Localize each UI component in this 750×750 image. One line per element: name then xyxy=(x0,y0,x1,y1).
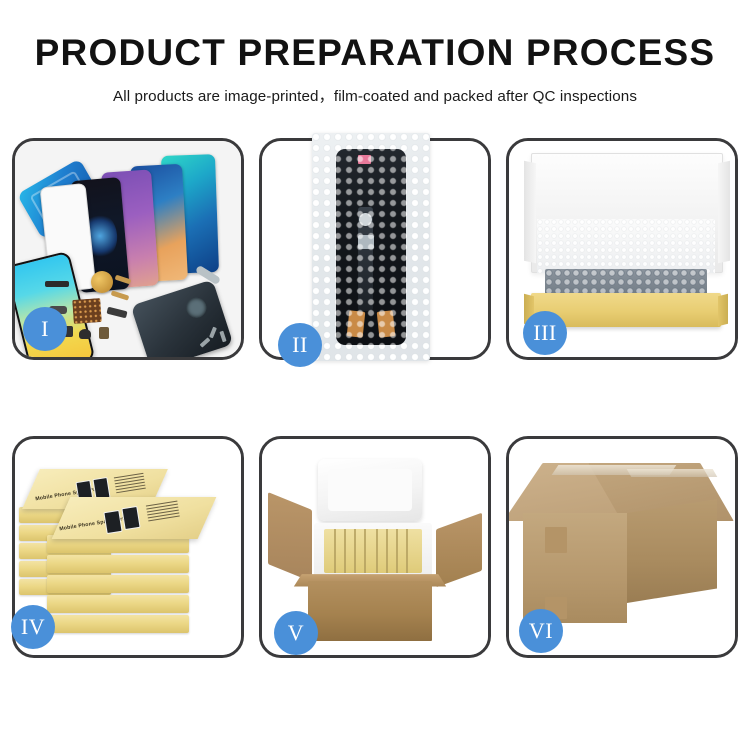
box-stack-right-5 xyxy=(47,615,189,633)
step-numeral-2: II xyxy=(292,332,308,358)
step-numeral-6: VI xyxy=(529,618,553,644)
process-step-grid: I II xyxy=(12,138,738,658)
step-badge-1: I xyxy=(23,307,67,351)
sim-tray-icon xyxy=(99,327,109,339)
process-step-card-4: Mobile Phone Spare Parts Mobile Phone Sp… xyxy=(12,436,244,658)
copper-flex-right-icon xyxy=(377,310,396,338)
driver-chip-icon xyxy=(358,235,374,249)
box-screen-print-right-2 xyxy=(121,506,140,530)
step-numeral-4: IV xyxy=(21,614,45,640)
foam-cooler-lid-icon xyxy=(318,459,422,521)
chip-grid-icon xyxy=(72,298,102,324)
step-badge-4: IV xyxy=(11,605,55,649)
step-badge-5: V xyxy=(274,611,318,655)
copper-flex-left-icon xyxy=(347,310,366,338)
box-stack-right-3 xyxy=(47,575,189,593)
process-step-card-2: II xyxy=(259,138,491,360)
process-step-card-6: VI xyxy=(506,436,738,658)
box-stack-right-2 xyxy=(47,555,189,573)
carton-body-icon xyxy=(308,581,432,641)
step-badge-6: VI xyxy=(519,609,563,653)
process-step-card-3: III xyxy=(506,138,738,360)
process-step-card-1: I xyxy=(12,138,244,360)
page-title: PRODUCT PREPARATION PROCESS xyxy=(0,34,750,71)
carton-front-panel xyxy=(523,513,627,623)
copper-coil-icon xyxy=(91,271,113,293)
carton-tab-icon-1 xyxy=(545,527,567,553)
product-preparation-infographic: PRODUCT PREPARATION PROCESS All products… xyxy=(0,0,750,750)
step-badge-3: III xyxy=(523,311,567,355)
step-numeral-1: I xyxy=(41,316,49,342)
process-step-card-5: V xyxy=(259,436,491,658)
page-subtitle: All products are image-printed，film-coat… xyxy=(0,84,750,106)
part-strip-icon xyxy=(45,281,69,287)
pink-label-icon xyxy=(358,155,371,164)
box-stack-right-4 xyxy=(47,595,189,613)
button-icon xyxy=(79,329,91,339)
step-badge-2: II xyxy=(278,323,322,367)
foam-padding-icon xyxy=(537,219,715,273)
packing-tape-icon-2 xyxy=(627,469,718,477)
header: PRODUCT PREPARATION PROCESS All products… xyxy=(0,0,750,106)
step-numeral-5: V xyxy=(288,620,304,646)
camera-module-icon xyxy=(359,213,372,226)
yellow-boxes-inside-icon xyxy=(324,529,422,573)
carton-side-panel xyxy=(627,499,717,603)
bubble-wrap-bag-icon xyxy=(312,133,430,361)
lcd-screen-icon xyxy=(336,149,406,345)
box-screen-print-right-1 xyxy=(103,510,122,534)
step-numeral-3: III xyxy=(533,320,556,346)
